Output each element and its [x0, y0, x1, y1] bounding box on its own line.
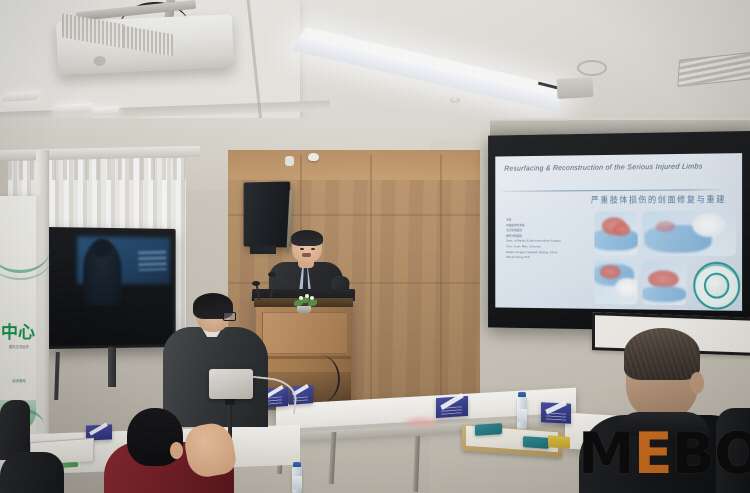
wood-panel-seam: [370, 155, 372, 405]
smartphone[interactable]: [475, 423, 502, 436]
logo-outer-ring: [695, 264, 738, 310]
projection-screen: Resurfacing & Reconstruction of the Seri…: [488, 131, 750, 332]
wall-camera-icon: [308, 153, 319, 161]
curtain-folds: [8, 158, 186, 180]
slide-surgical-image: [642, 211, 736, 256]
banner-headline: 中心: [0, 318, 36, 343]
microphone-icon: [268, 272, 276, 277]
screen-text-blur: [138, 251, 167, 271]
name-tent-card: [541, 402, 571, 424]
flat-panel-display: [47, 227, 176, 349]
wall-speaker-bracket: [250, 245, 276, 254]
mebo-watermark: M E BO: [578, 424, 746, 484]
projector-lens-icon: [93, 56, 105, 67]
slide-title-rule: [502, 189, 723, 192]
bottle-label: [292, 476, 302, 489]
display-screen: [50, 230, 173, 346]
screen-silhouette-head: [93, 239, 112, 258]
ear: [690, 372, 704, 394]
slide-title: Resurfacing & Reconstruction of the Seri…: [504, 159, 731, 174]
slide-surgical-image: [594, 211, 637, 255]
recessed-downlight: [90, 106, 120, 115]
name-tent-card: [436, 396, 468, 418]
ceiling-spotlight: [557, 77, 594, 99]
wall-sensor-icon: [285, 156, 294, 166]
slide-surgical-image: [642, 260, 686, 305]
flower-pot: [297, 306, 311, 313]
slide-meta-line: Wang Cheng, M.D.: [506, 255, 591, 261]
wood-panel-wall-top: [228, 150, 480, 180]
eyeglasses-icon: [223, 312, 236, 321]
slide-author-block: 王成 中国医学科学院 北京协和医院 整形外科医院 Dept. of Plasti…: [506, 217, 591, 260]
water-bottle: [292, 466, 302, 493]
banner-subline: 培训基地: [2, 378, 36, 384]
conference-photo-scene: Resurfacing & Reconstruction of the Seri…: [0, 0, 750, 493]
watermark-e: E: [634, 424, 672, 484]
slide-surgical-image: [594, 260, 637, 304]
presenter-mouth: [302, 253, 311, 257]
microphone-icon: [252, 281, 260, 286]
presenter-hair: [291, 230, 323, 246]
ear: [170, 442, 183, 459]
video-camera-on-monopod: [209, 369, 253, 399]
wood-panel-seam: [228, 282, 480, 284]
display-stand: [108, 347, 116, 387]
water-bottle: [517, 396, 527, 429]
wall-speaker: [244, 181, 291, 247]
lectern-front-panel: [262, 312, 347, 354]
bottle-label: [517, 409, 527, 422]
yellow-item: [548, 435, 570, 449]
slide-subtitle-cn: 严重肢体损伤的创面修复与重建: [582, 193, 735, 206]
wood-panel-seam: [440, 155, 442, 405]
hair-texture: [624, 328, 700, 380]
bottle-cap: [293, 462, 301, 467]
hospital-crest-logo: [693, 262, 740, 310]
ceiling-ring-fixture: [577, 60, 607, 76]
slide-surface: Resurfacing & Reconstruction of the Seri…: [495, 153, 742, 311]
person-far-left-dark: [0, 452, 64, 493]
smartphone[interactable]: [523, 436, 549, 449]
person-far-left-dark: [0, 400, 30, 460]
smoke-detector: [450, 97, 460, 103]
watermark-m: M: [578, 424, 634, 484]
bottle-cap: [518, 392, 526, 397]
banner-subline: 国际交流合作: [2, 344, 36, 350]
watermark-bo: BO: [672, 424, 750, 484]
pink-coaster: [404, 417, 439, 428]
